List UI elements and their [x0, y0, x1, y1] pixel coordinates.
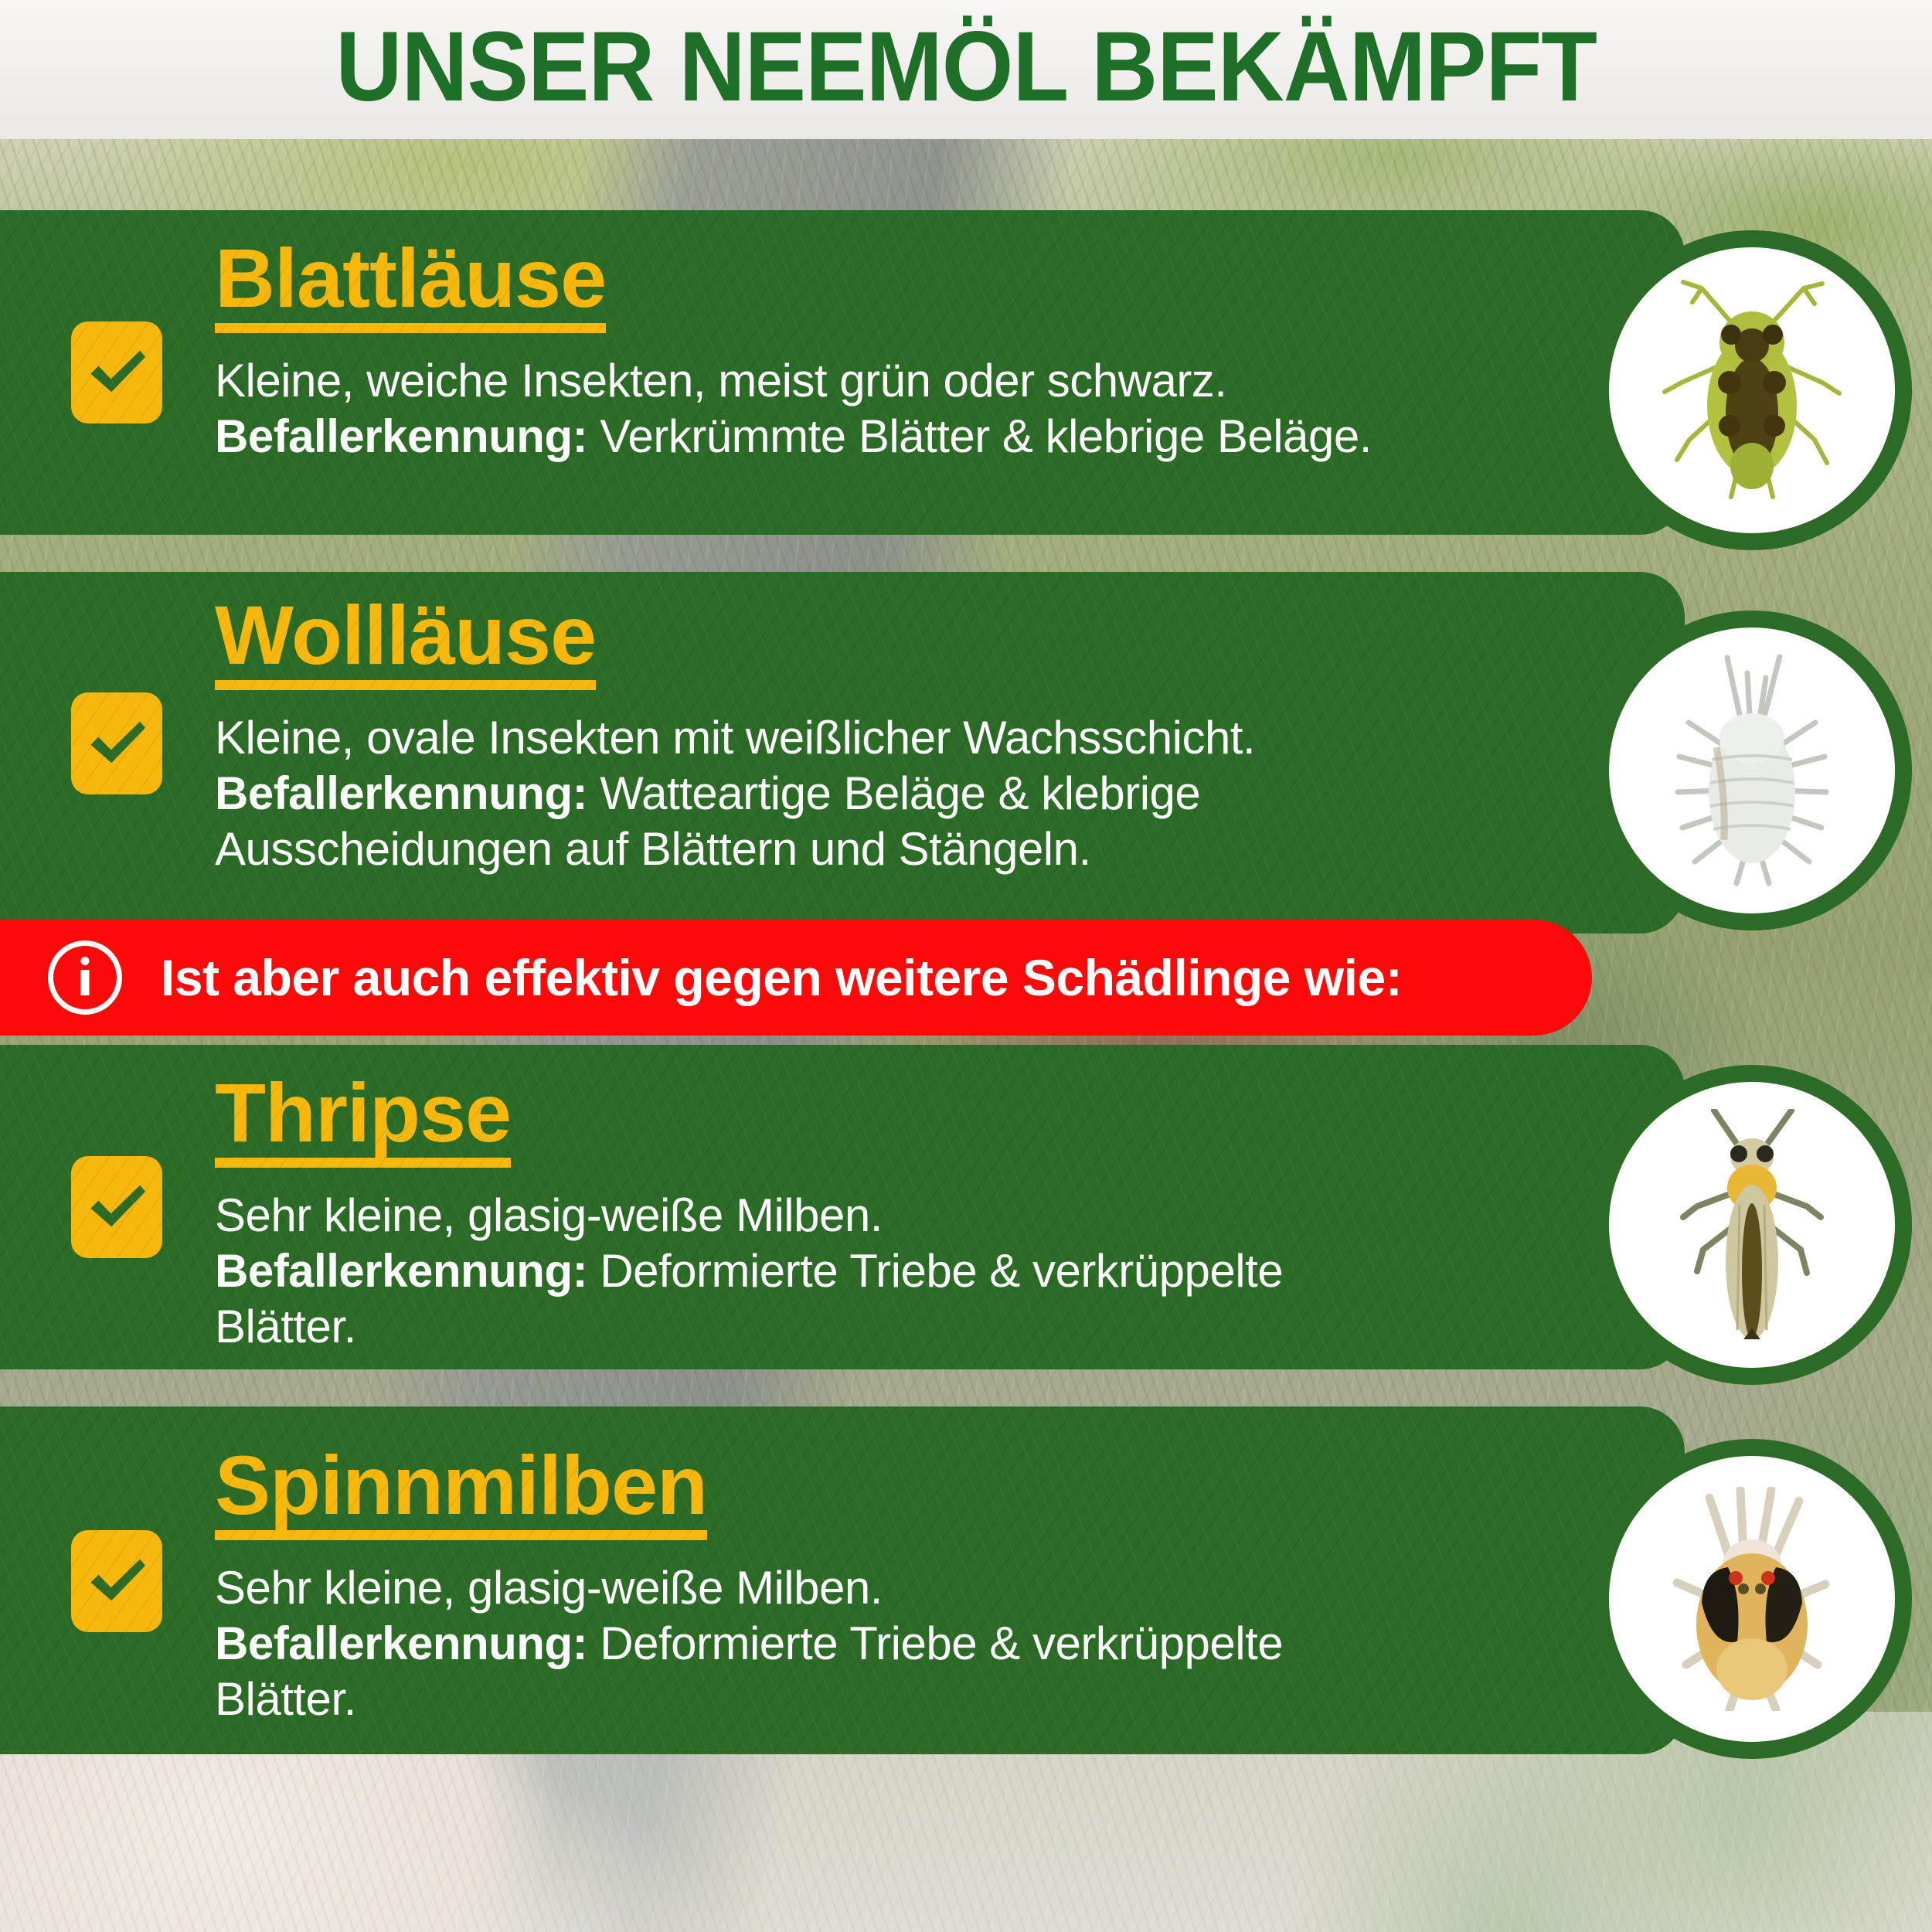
desc-text-3-0: Sehr kleine, glasig-weiße Milben. [215, 1562, 883, 1614]
desc-text-1-2: Ausscheidungen auf Blättern und Stängeln… [215, 823, 1091, 875]
info-circle-icon [48, 940, 122, 1015]
header-bar: UNSER NEEMÖL BEKÄMPFT [0, 0, 1932, 139]
pest-description-1: Kleine, ovale Insekten mit weißlicher Wa… [215, 710, 1430, 877]
checkmark-icon [84, 340, 149, 405]
pest-name-2: Thripse [215, 1071, 511, 1168]
pest-text-block-2: Thripse Sehr kleine, glasig-weiße Milben… [215, 1071, 1430, 1355]
info-banner-text: Ist aber auch effektiv gegen weitere Sch… [161, 948, 1402, 1007]
pest-description-0: Kleine, weiche Insekten, meist grün oder… [215, 353, 1430, 464]
pest-name-1: Wollläuse [215, 594, 596, 690]
info-banner: Ist aber auch effektiv gegen weitere Sch… [0, 920, 1592, 1036]
checkmark-badge-1 [71, 692, 162, 794]
checkmark-badge-3 [71, 1530, 162, 1632]
pest-description-2: Sehr kleine, glasig-weiße Milben. Befall… [215, 1188, 1430, 1355]
desc-line-1-1: Befallerkennung: Watteartige Beläge & kl… [215, 766, 1430, 821]
poster-root: UNSER NEEMÖL BEKÄMPFT Blattläuse Kleine,… [0, 0, 1932, 1932]
desc-text-1-1: Watteartige Beläge & klebrige [587, 767, 1200, 819]
desc-text-2-0: Sehr kleine, glasig-weiße Milben. [215, 1189, 883, 1241]
desc-lead-2-1: Befallerkennung: [215, 1245, 587, 1297]
desc-lead-3-1: Befallerkennung: [215, 1617, 587, 1669]
desc-line-0-0: Kleine, weiche Insekten, meist grün oder… [215, 353, 1430, 409]
desc-lead-1-1: Befallerkennung: [215, 767, 587, 819]
pest-card-spinnmilben: Spinnmilben Sehr kleine, glasig-weiße Mi… [0, 1406, 1685, 1754]
desc-lead-0-1: Befallerkennung: [215, 410, 587, 462]
desc-line-0-1: Befallerkennung: Verkrümmte Blätter & kl… [215, 409, 1430, 464]
mealybug-photo [1592, 611, 1912, 930]
spidermite-illustration [1655, 1487, 1849, 1711]
desc-text-0-0: Kleine, weiche Insekten, meist grün oder… [215, 355, 1226, 406]
desc-line-3-1: Befallerkennung: Deformierte Triebe & ve… [215, 1616, 1430, 1727]
checkmark-icon [84, 711, 149, 776]
desc-line-3-0: Sehr kleine, glasig-weiße Milben. [215, 1560, 1430, 1616]
pest-name-3: Spinnmilben [215, 1444, 707, 1540]
page-title: UNSER NEEMÖL BEKÄMPFT [335, 18, 1597, 121]
thrips-illustration [1663, 1109, 1841, 1341]
info-icon-stem [81, 970, 90, 995]
spidermite-photo [1592, 1439, 1912, 1759]
desc-line-1-0: Kleine, ovale Insekten mit weißlicher Wa… [215, 710, 1430, 766]
checkmark-badge-2 [71, 1156, 162, 1258]
pest-card-thripse: Thripse Sehr kleine, glasig-weiße Milben… [0, 1045, 1685, 1369]
pest-description-3: Sehr kleine, glasig-weiße Milben. Befall… [215, 1560, 1430, 1727]
info-icon-dot [81, 957, 90, 965]
desc-text-1-0: Kleine, ovale Insekten mit weißlicher Wa… [215, 712, 1255, 764]
desc-text-0-1: Verkrümmte Blätter & klebrige Beläge. [587, 410, 1372, 462]
pest-card-blattlaeuse: Blattläuse Kleine, weiche Insekten, meis… [0, 210, 1685, 535]
thrips-photo [1592, 1065, 1912, 1385]
desc-line-2-0: Sehr kleine, glasig-weiße Milben. [215, 1188, 1430, 1243]
desc-line-2-1: Befallerkennung: Deformierte Triebe & ve… [215, 1243, 1430, 1355]
mealybug-illustration [1659, 655, 1845, 886]
pest-text-block-1: Wollläuse Kleine, ovale Insekten mit wei… [215, 594, 1430, 877]
aphid-photo [1592, 230, 1912, 550]
pest-card-wolllaeuse: Wollläuse Kleine, ovale Insekten mit wei… [0, 572, 1685, 934]
pest-text-block-3: Spinnmilben Sehr kleine, glasig-weiße Mi… [215, 1444, 1430, 1727]
desc-line-1-2: Ausscheidungen auf Blättern und Stängeln… [215, 821, 1430, 877]
checkmark-badge-0 [71, 321, 162, 423]
pest-name-0: Blattläuse [215, 236, 606, 333]
checkmark-icon [84, 1175, 149, 1240]
aphid-illustration [1655, 274, 1849, 506]
pest-text-block-0: Blattläuse Kleine, weiche Insekten, meis… [215, 236, 1430, 464]
checkmark-icon [84, 1549, 149, 1614]
